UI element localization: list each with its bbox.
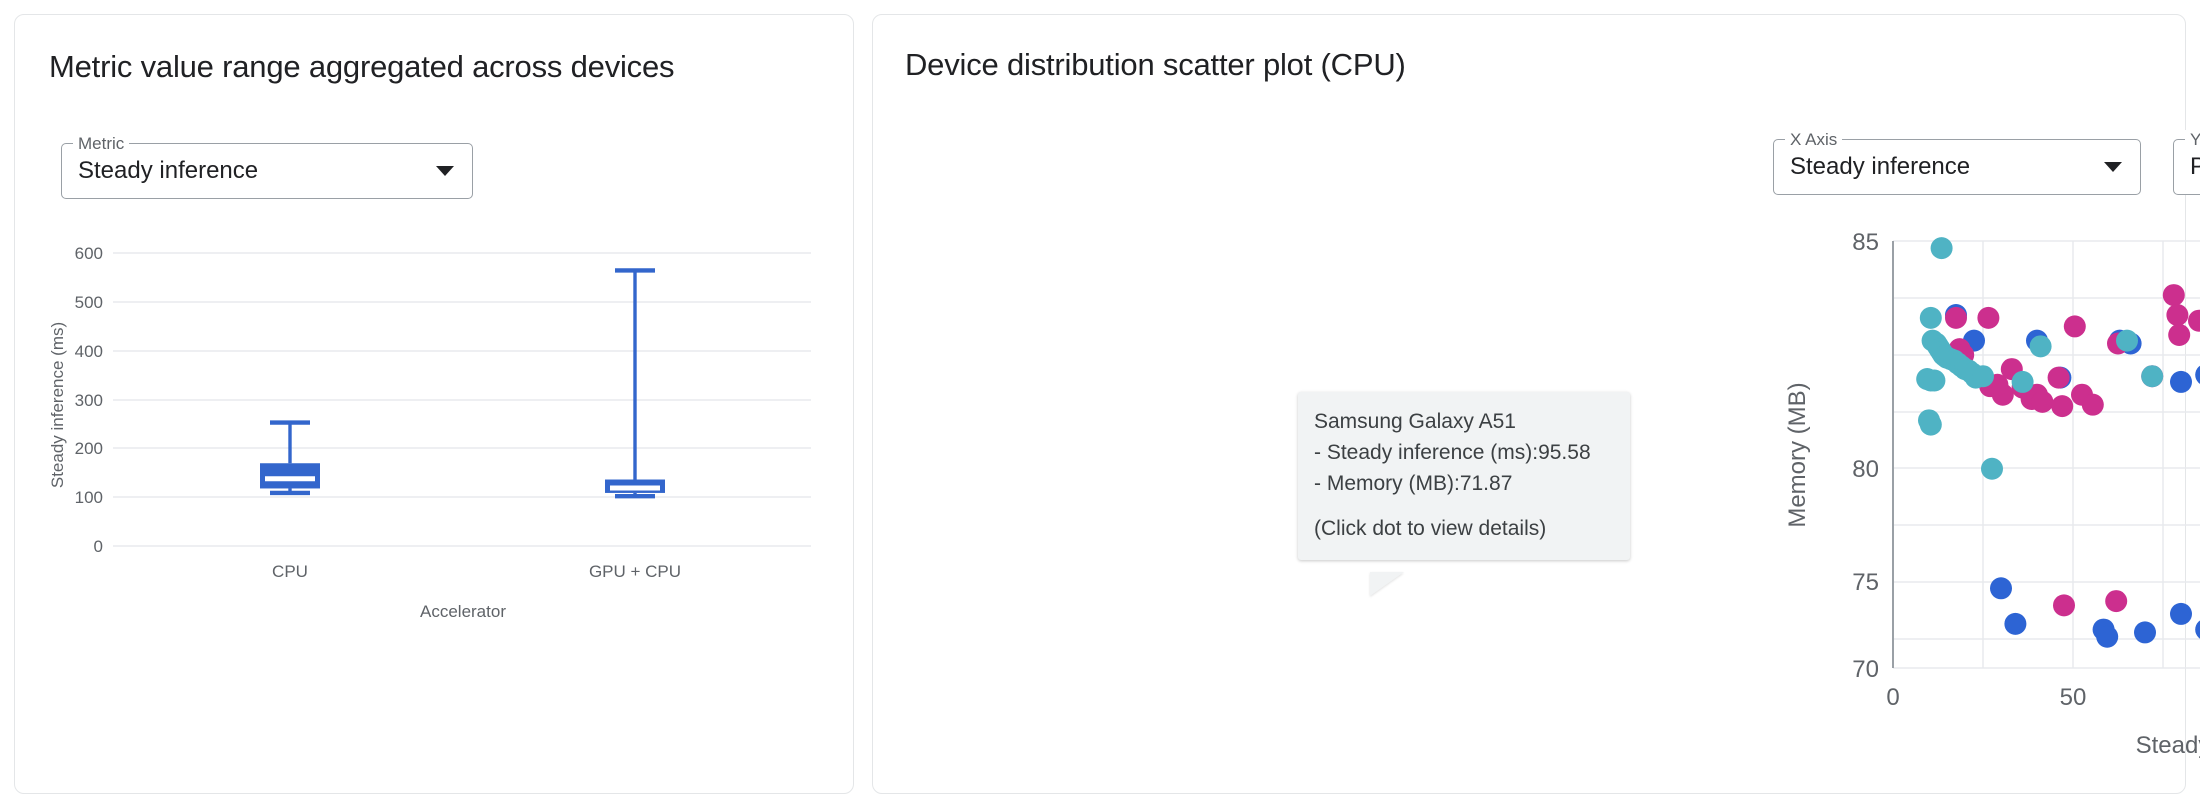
svg-text:50: 50 [2060, 684, 2087, 711]
scatter-point[interactable] [2116, 330, 2138, 352]
scatter-xaxis-title: Steady inference (ms) [2136, 732, 2200, 759]
scatter-ytick-labels: 85 80 75 70 [1852, 229, 1879, 683]
tooltip-spacer [1314, 499, 1614, 513]
scatter-point[interactable] [2096, 626, 2118, 648]
boxplot-series-gpu-cpu[interactable] [605, 270, 665, 496]
y-axis-select[interactable]: Y Axis Peak memory [2173, 139, 2200, 195]
svg-text:70: 70 [1852, 656, 1879, 683]
scatter-point[interactable] [2166, 304, 2188, 326]
scatter-point[interactable] [2053, 594, 2075, 616]
chevron-down-icon[interactable] [2104, 162, 2122, 172]
tooltip-device-name: Samsung Galaxy A51 [1314, 406, 1614, 437]
scatter-point[interactable] [1945, 307, 1967, 329]
tooltip-metric-memory: - Memory (MB):71.87 [1314, 468, 1614, 499]
scatter-point[interactable] [2082, 394, 2104, 416]
scatter-point[interactable] [1920, 414, 1942, 436]
scatter-point[interactable] [1931, 237, 1953, 259]
scatter-gridlines [1893, 241, 2200, 668]
scatter-point[interactable] [1981, 458, 2003, 480]
scatter-point[interactable] [2004, 613, 2026, 635]
scatter-point[interactable] [1990, 577, 2012, 599]
boxplot-chart: 600 500 400 300 200 100 0 Steady inferen… [41, 225, 841, 775]
boxplot-yaxis-title: Steady inference (ms) [48, 322, 67, 488]
scatter-point[interactable] [2030, 335, 2052, 357]
scatter-point[interactable] [2031, 391, 2053, 413]
scatter-xtick-labels: 0 50 100 150 200 [1886, 684, 2200, 711]
scatter-point[interactable] [2064, 315, 2086, 337]
tooltip-hint: (Click dot to view details) [1314, 513, 1614, 544]
boxplot-xtick-gpu-cpu: GPU + CPU [589, 562, 681, 581]
scatter-card-title: Device distribution scatter plot (CPU) [905, 47, 1406, 83]
scatter-point[interactable] [2105, 590, 2127, 612]
svg-text:300: 300 [75, 391, 103, 410]
metric-select-legend: Metric [73, 134, 129, 154]
y-axis-select-value: Peak memory [2190, 153, 2200, 181]
scatter-point[interactable] [2170, 603, 2192, 625]
svg-text:0: 0 [1886, 684, 1899, 711]
scatter-point[interactable] [2195, 364, 2200, 386]
boxplot-card-title: Metric value range aggregated across dev… [49, 49, 674, 85]
boxplot-gridlines [113, 253, 811, 546]
svg-text:500: 500 [75, 293, 103, 312]
scatter-point[interactable] [2012, 371, 2034, 393]
chevron-down-icon[interactable] [436, 166, 454, 176]
svg-text:85: 85 [1852, 229, 1879, 256]
svg-text:100: 100 [75, 488, 103, 507]
scatter-point[interactable] [2170, 371, 2192, 393]
metric-select-value: Steady inference [78, 157, 258, 185]
tooltip-pointer [1370, 572, 1404, 596]
svg-text:200: 200 [75, 439, 103, 458]
scatter-point[interactable] [2195, 619, 2200, 641]
svg-text:0: 0 [94, 537, 103, 556]
scatter-point[interactable] [1977, 307, 1999, 329]
scatter-chart: 85 80 75 70 0 50 100 150 200 Memory (MB)… [1753, 205, 2200, 765]
scatter-points-group[interactable] [1916, 237, 2200, 660]
x-axis-select-value: Steady inference [1790, 153, 1970, 181]
scatter-point[interactable] [2188, 310, 2200, 332]
scatter-point[interactable] [2141, 365, 2163, 387]
metric-select[interactable]: Metric Steady inference [61, 143, 473, 199]
svg-text:600: 600 [75, 244, 103, 263]
svg-text:400: 400 [75, 342, 103, 361]
boxplot-ytick-labels: 600 500 400 300 200 100 0 [75, 244, 103, 556]
boxplot-series-cpu[interactable] [260, 423, 320, 493]
svg-text:80: 80 [1852, 456, 1879, 483]
scatter-point[interactable] [2163, 284, 2185, 306]
svg-text:75: 75 [1852, 569, 1879, 596]
tooltip-metric-steady-inference: - Steady inference (ms):95.58 [1314, 437, 1614, 468]
scatter-tooltip: Samsung Galaxy A51 - Steady inference (m… [1298, 392, 1630, 560]
boxplot-xaxis-title: Accelerator [420, 602, 506, 621]
boxplot-xtick-cpu: CPU [272, 562, 308, 581]
scatter-point[interactable] [1923, 369, 1945, 391]
y-axis-select-legend: Y Axis [2185, 130, 2200, 150]
scatter-point[interactable] [2051, 395, 2073, 417]
scatter-point[interactable] [2134, 621, 2156, 643]
scatter-point[interactable] [2168, 324, 2190, 346]
x-axis-select[interactable]: X Axis Steady inference [1773, 139, 2141, 195]
boxplot-card: Metric value range aggregated across dev… [14, 14, 854, 794]
scatter-yaxis-title: Memory (MB) [1784, 382, 1811, 527]
scatter-point[interactable] [2048, 367, 2070, 389]
dashboard-root: Metric value range aggregated across dev… [0, 0, 2200, 808]
scatter-point[interactable] [1920, 307, 1942, 329]
x-axis-select-legend: X Axis [1785, 130, 1842, 150]
scatter-point[interactable] [1972, 365, 1994, 387]
